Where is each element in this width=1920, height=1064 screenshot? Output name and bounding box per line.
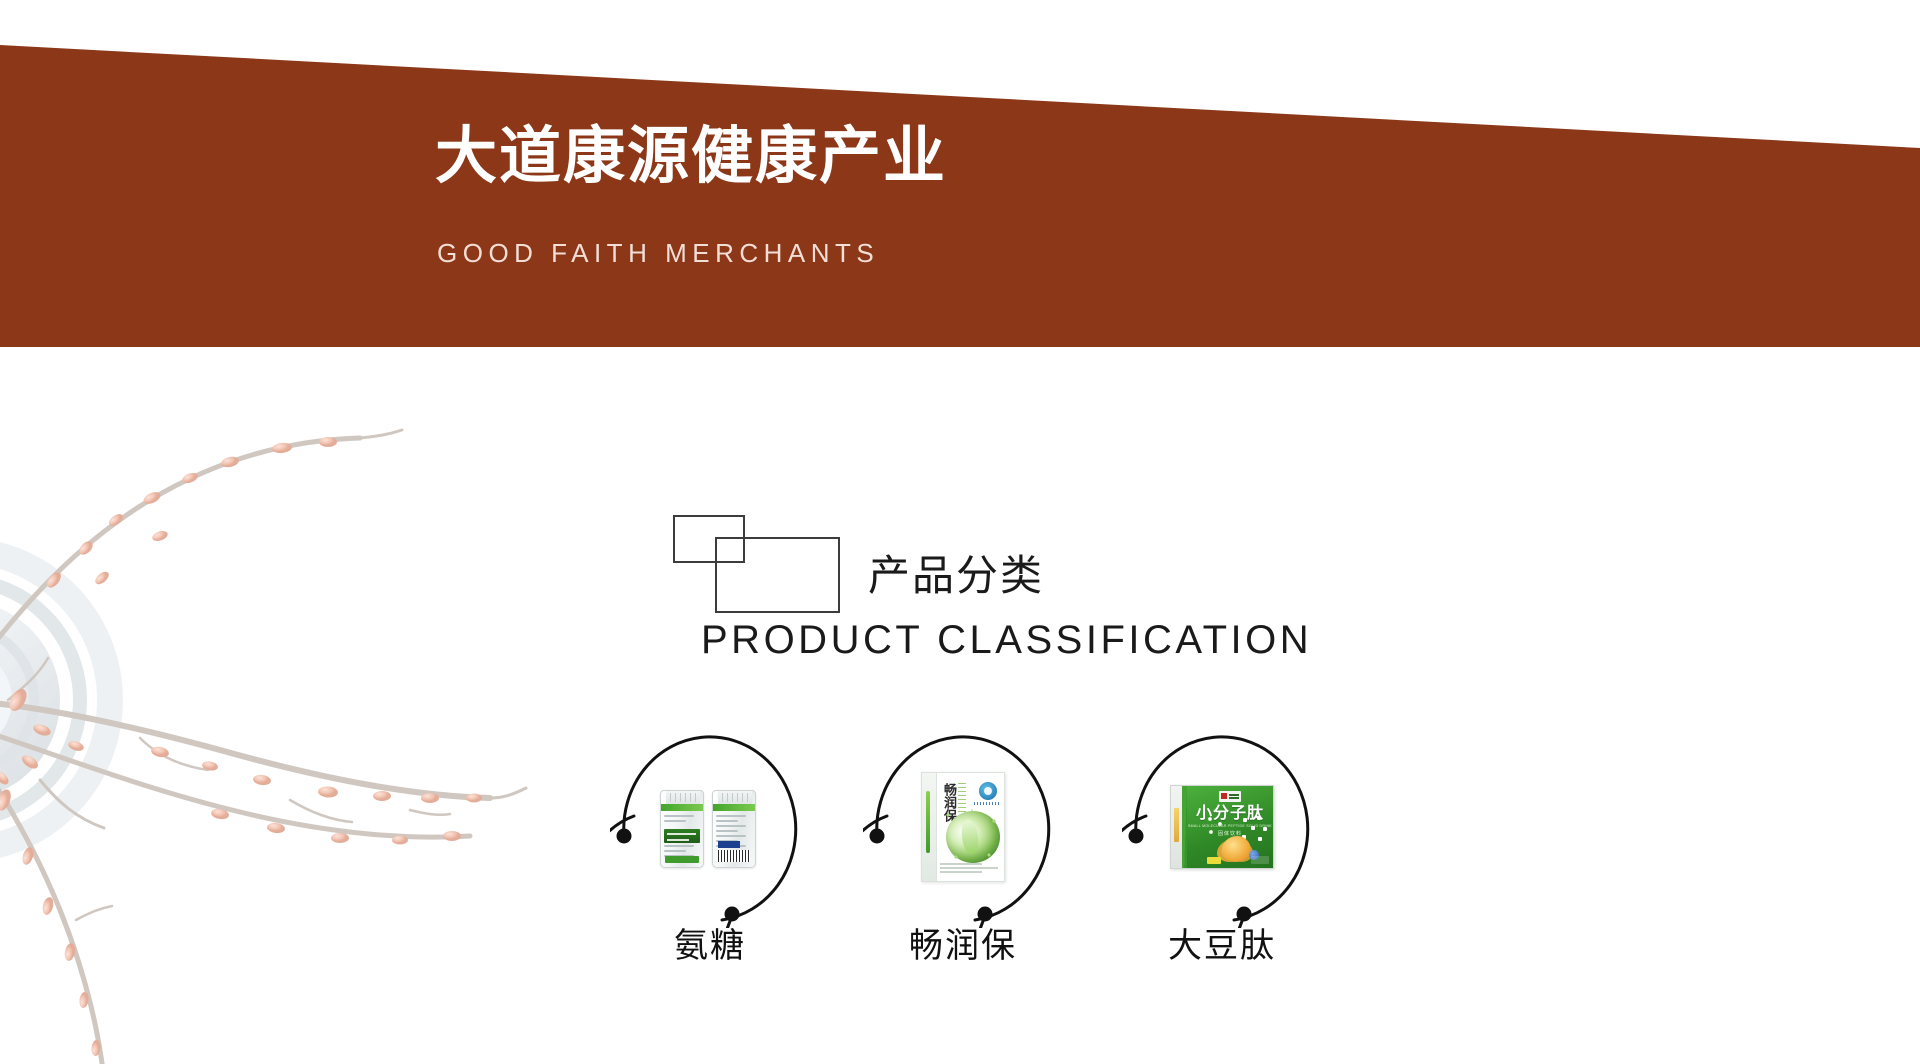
- banner-subtitle: GOOD FAITH MERCHANTS: [437, 240, 879, 266]
- bottle-green-band: [713, 804, 755, 811]
- brand-logo-text: [974, 802, 1000, 805]
- product-image-1: 畅润保: [897, 766, 1029, 888]
- carton-side-panel: [1171, 786, 1182, 868]
- product-image-2: 小分子肽 SMALL MOLECULAR PEPTIDE SOLID DRINK…: [1156, 766, 1288, 888]
- section-heading-en: PRODUCT CLASSIFICATION: [701, 620, 1312, 660]
- product-list: 氨糖 畅润保: [600, 728, 1320, 1018]
- branch-buds: [0, 437, 482, 1056]
- ginseng-graphic-icon: [1221, 836, 1251, 862]
- bottle-cap: [666, 791, 700, 805]
- carton-spine-stripe: [926, 791, 930, 853]
- product-label-1: 畅润保: [863, 926, 1063, 967]
- product-label-0: 氨糖: [610, 926, 810, 967]
- carton-front-face: 小分子肽 SMALL MOLECULAR PEPTIDE SOLID DRINK…: [1187, 786, 1273, 868]
- carton-spine: [922, 773, 937, 881]
- molecule-graphic-small-icon: [1207, 816, 1225, 838]
- bottle-cap: [718, 791, 752, 805]
- banner-title: 大道康源健康产业: [435, 126, 947, 188]
- header-banner: [0, 0, 1920, 350]
- carton-white-icon: 畅润保: [921, 772, 1005, 882]
- carton-footer-text: [940, 863, 998, 875]
- product-card-0[interactable]: 氨糖: [610, 728, 810, 1018]
- bottle-back: [712, 790, 756, 868]
- section-heading-cn: 产品分类: [868, 555, 1044, 597]
- bottle-pair-icon: [658, 784, 762, 870]
- product-label-2: 大豆肽: [1122, 926, 1322, 967]
- branch-strokes: [0, 430, 526, 1064]
- poster-page: 大道康源健康产业 GOOD FAITH MERCHANTS 产品分类 PRODU…: [0, 0, 1920, 1064]
- bottle-green-band: [661, 804, 703, 811]
- bottle-front: [660, 790, 704, 868]
- section-heading: 产品分类 PRODUCT CLASSIFICATION: [668, 510, 1288, 700]
- bottle-footer-band: [665, 856, 699, 863]
- carton-green-icon: 小分子肽 SMALL MOLECULAR PEPTIDE SOLID DRINK…: [1170, 785, 1274, 869]
- product-card-1[interactable]: 畅润保 畅润保: [863, 728, 1063, 1018]
- brand-logo-icon: [979, 782, 997, 800]
- decorative-branch: [0, 400, 530, 1064]
- vase-rings: [0, 550, 110, 850]
- particle-dots-icon: [942, 807, 1004, 867]
- brand-badge-icon: [1219, 791, 1241, 802]
- product-image-0: [644, 766, 776, 888]
- decor-rect-large: [715, 537, 840, 613]
- barcode-icon: [718, 850, 750, 862]
- carton-netweight-block: [1251, 856, 1269, 864]
- bottle-blue-mark: [718, 841, 740, 848]
- product-card-2[interactable]: 小分子肽 SMALL MOLECULAR PEPTIDE SOLID DRINK…: [1122, 728, 1322, 1018]
- carton-tag-badge: [1207, 857, 1221, 864]
